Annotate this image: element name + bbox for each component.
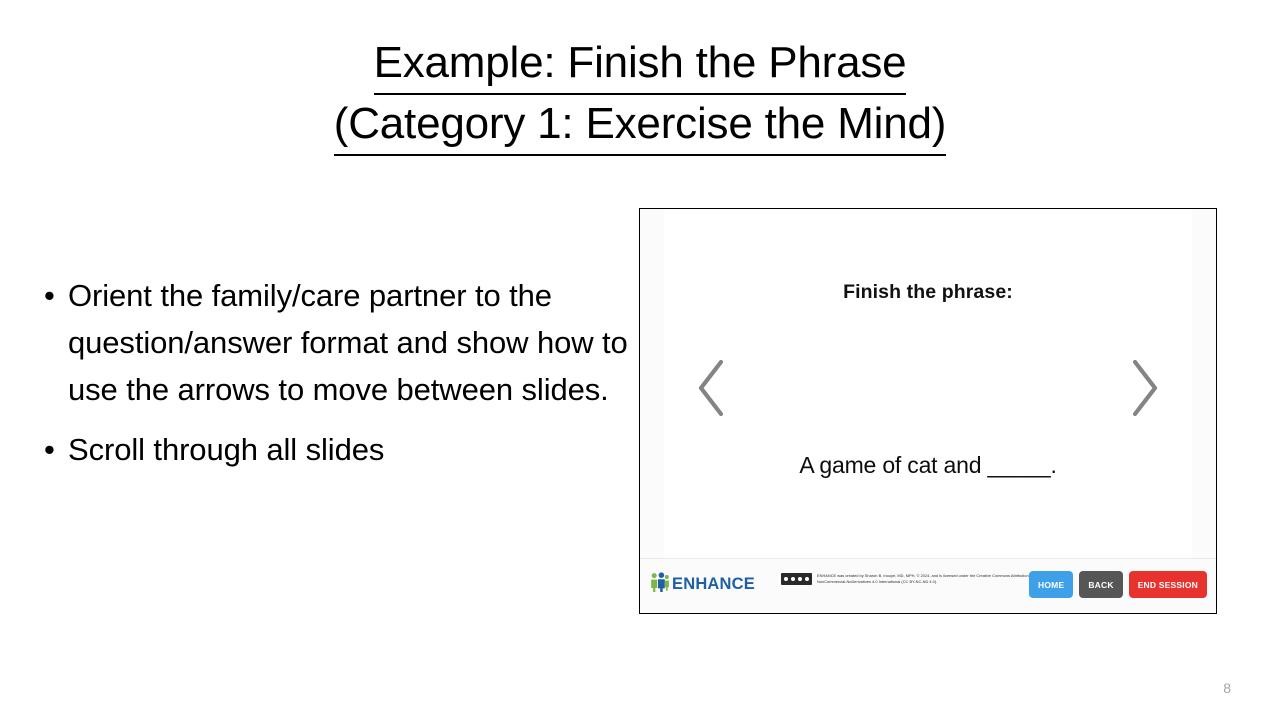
bullet-dot-icon: • [44,272,55,319]
question-heading: Finish the phrase: [664,281,1192,304]
page-number: 8 [1223,680,1231,696]
app-screenshot-image: Finish the phrase: A game of cat and ___… [639,208,1217,614]
app-footer: ENHANCE ENHANCE was created by Sharon B.… [640,558,1216,613]
license-block: ENHANCE was created by Sharon B. Inouye,… [781,573,1051,585]
title-line-1: Example: Finish the Phrase [64,34,1216,95]
end-session-button[interactable]: END SESSION [1129,571,1207,598]
enhance-logo-text: ENHANCE [672,575,755,594]
app-content-card: Finish the phrase: A game of cat and ___… [664,209,1192,558]
title-line-1-text: Example: Finish the Phrase [374,34,907,95]
people-group-icon [650,572,669,597]
list-item-text: Orient the family/care partner to the qu… [68,278,628,407]
app-screen: Finish the phrase: A game of cat and ___… [640,209,1216,613]
page-title: Example: Finish the Phrase (Category 1: … [64,34,1216,156]
phrase-prompt-text: A game of cat and _____. [664,452,1192,479]
bullet-list: • Orient the family/care partner to the … [40,272,630,473]
list-item: • Orient the family/care partner to the … [40,272,630,413]
list-item: • Scroll through all slides [40,426,630,473]
bullet-dot-icon: • [44,426,55,473]
chevron-right-icon[interactable] [1128,357,1162,419]
title-line-2-text: (Category 1: Exercise the Mind) [334,95,947,156]
back-button[interactable]: BACK [1079,571,1122,598]
chevron-left-icon[interactable] [694,357,728,419]
app-footer-buttons: HOME BACK END SESSION [1029,571,1207,598]
home-button[interactable]: HOME [1029,571,1073,598]
creative-commons-badge-icon [781,573,812,585]
list-item-text: Scroll through all slides [68,432,384,467]
enhance-logo: ENHANCE [650,572,755,597]
title-line-2: (Category 1: Exercise the Mind) [64,95,1216,156]
license-text: ENHANCE was created by Sharon B. Inouye,… [817,573,1051,584]
